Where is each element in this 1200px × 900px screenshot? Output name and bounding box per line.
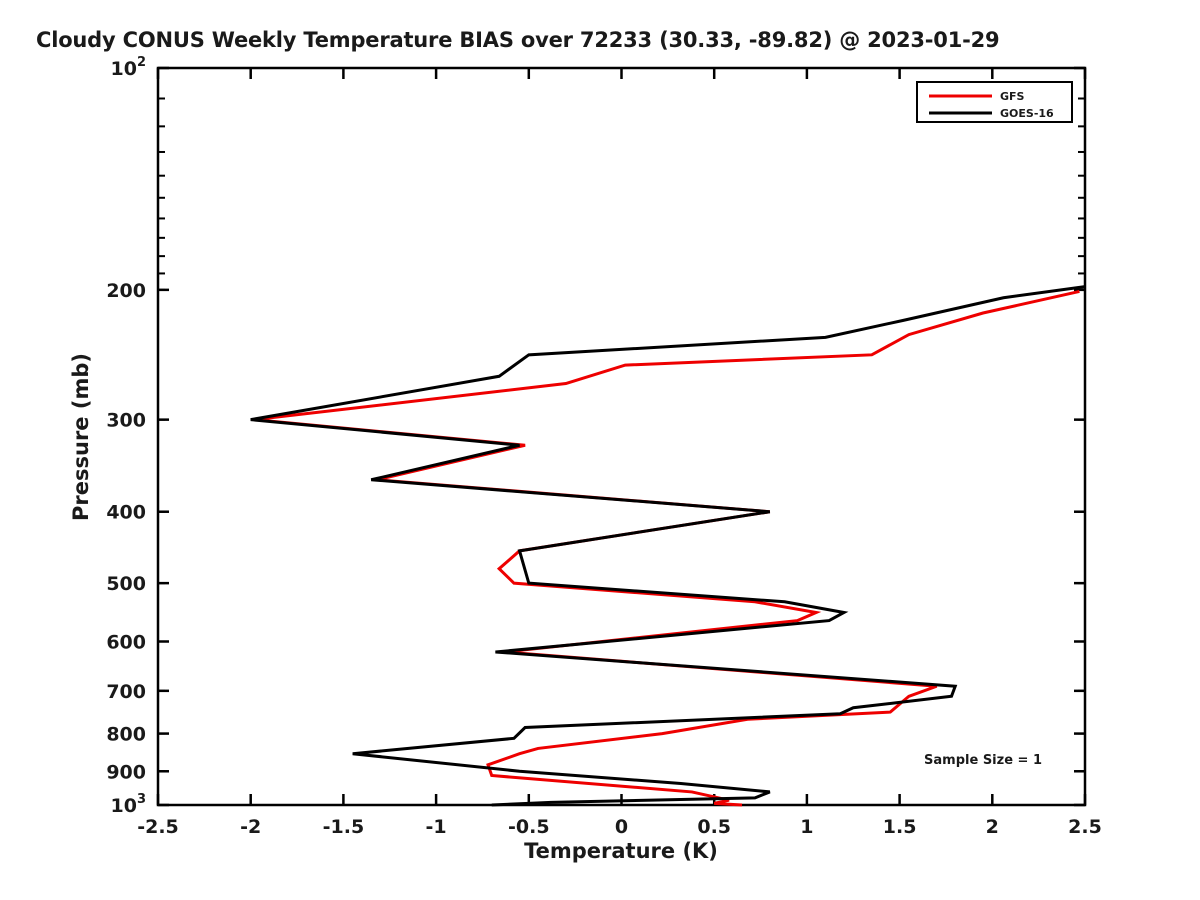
x-axis-ticks [158,68,1085,805]
sample-size-annotation: Sample Size = 1 [924,753,1042,768]
x-tick-label: -2 [240,816,261,838]
y-tick-label: 600 [106,631,146,653]
x-axis-tick-labels: -2.5-2-1.5-1-0.500.511.522.5 [137,816,1102,838]
y-axis-tick-labels: 102200300400500600700800900103 [106,55,146,817]
x-tick-label: 1 [800,816,813,838]
chart-page: Cloudy CONUS Weekly Temperature BIAS ove… [0,0,1200,900]
x-tick-label: 1.5 [883,816,917,838]
annotations-layer: Sample Size = 1 [924,753,1042,768]
axis-frame [158,68,1085,805]
x-tick-label: 2.5 [1068,816,1102,838]
y-tick-label: 400 [106,502,146,524]
y-axis-title: Pressure (mb) [69,353,93,521]
x-tick-label: 0.5 [697,816,731,838]
y-tick-label: 500 [106,573,146,595]
y-tick-label: 900 [106,761,146,783]
chart-legend[interactable]: GFSGOES-16 [917,82,1072,122]
temperature-bias-profile-chart: -2.5-2-1.5-1-0.500.511.522.5 10220030040… [0,0,1200,900]
y-tick-label: 103 [111,792,147,817]
y-tick-label: 700 [106,681,146,703]
x-tick-label: -1 [426,816,447,838]
x-tick-label: -0.5 [508,816,550,838]
x-tick-label: 0 [615,816,628,838]
legend-label-gfs[interactable]: GFS [1000,90,1025,103]
y-tick-label: 800 [106,724,146,746]
plot-border [158,68,1085,805]
x-tick-label: 2 [986,816,999,838]
legend-label-goes-16[interactable]: GOES-16 [1000,107,1054,120]
y-tick-label: 300 [106,410,146,432]
x-tick-label: -1.5 [323,816,365,838]
x-axis-title: Temperature (K) [524,839,718,863]
x-tick-label: -2.5 [137,816,179,838]
y-tick-label: 200 [106,280,146,302]
series-line-gfs [254,291,1079,805]
data-series-layer [251,287,1085,805]
y-tick-label: 102 [111,55,147,80]
y-axis-ticks [158,68,1085,805]
